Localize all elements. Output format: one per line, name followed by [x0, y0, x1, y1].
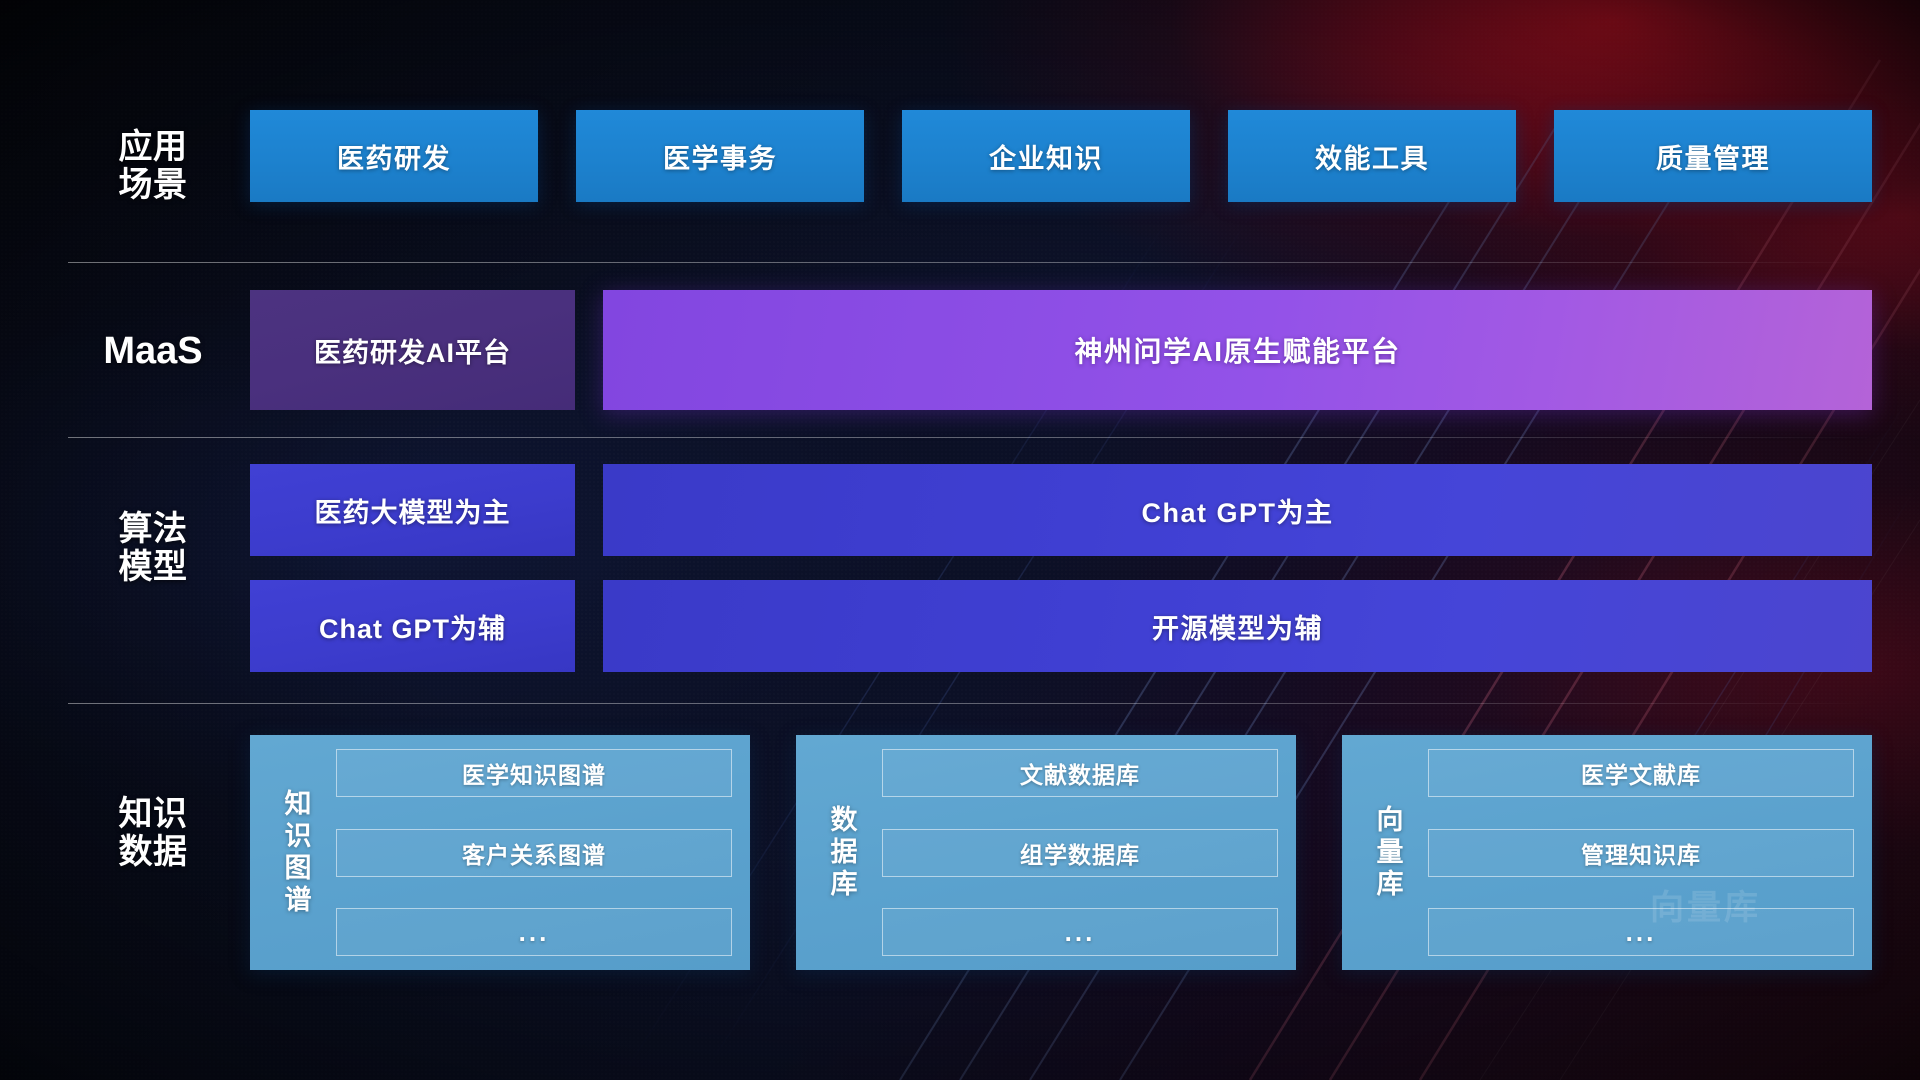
knowledge-panel-items: 医学知识图谱 客户关系图谱 ...	[326, 749, 732, 956]
knowledge-item[interactable]: 医学文献库	[1428, 749, 1854, 797]
algo-box-pharma-llm-primary[interactable]: 医药大模型为主	[250, 464, 575, 556]
divider-tier3	[68, 703, 1872, 704]
tier-label-line: 场景	[78, 166, 228, 204]
app-box-quality-management[interactable]: 质量管理	[1554, 110, 1872, 202]
algo-bar-chatgpt-primary[interactable]: Chat GPT为主	[603, 464, 1872, 556]
maas-banner-shenzhou-wenxue[interactable]: 神州问学AI原生赋能平台	[603, 290, 1872, 410]
knowledge-panel-items: 文献数据库 组学数据库 ...	[872, 749, 1278, 956]
knowledge-panel-label: 知识图谱	[264, 749, 326, 956]
tier-label-line: 知识	[78, 795, 228, 833]
knowledge-item[interactable]: 文献数据库	[882, 749, 1278, 797]
knowledge-panel-items: 医学文献库 管理知识库 ...	[1418, 749, 1854, 956]
knowledge-item[interactable]: 医学知识图谱	[336, 749, 732, 797]
tier-label-algorithm-models: 算法 模型	[78, 510, 228, 586]
tier-label-line: 模型	[78, 548, 228, 586]
architecture-diagram: 应用 场景 医药研发 医学事务 企业知识 效能工具 质量管理 MaaS 医药研发…	[0, 0, 1920, 1080]
knowledge-panel-knowledge-graph[interactable]: 知识图谱 医学知识图谱 客户关系图谱 ...	[250, 735, 750, 970]
tier-label-line: 应用	[78, 128, 228, 166]
knowledge-panel-label: 数据库	[810, 749, 872, 956]
maas-box-pharma-ai-platform[interactable]: 医药研发AI平台	[250, 290, 575, 410]
knowledge-item-more[interactable]: ...	[336, 908, 732, 956]
tier-label-maas: MaaS	[78, 330, 228, 373]
tier-label-application-scenarios: 应用 场景	[78, 128, 228, 204]
app-box-enterprise-knowledge[interactable]: 企业知识	[902, 110, 1190, 202]
knowledge-item-more[interactable]: ...	[882, 908, 1278, 956]
divider-tier1	[68, 262, 1872, 263]
divider-tier2	[68, 437, 1872, 438]
algo-box-chatgpt-secondary[interactable]: Chat GPT为辅	[250, 580, 575, 672]
tier-label-line: MaaS	[78, 330, 228, 373]
knowledge-item[interactable]: 管理知识库	[1428, 829, 1854, 877]
knowledge-item[interactable]: 组学数据库	[882, 829, 1278, 877]
tier-label-line: 数据	[78, 833, 228, 871]
app-box-efficiency-tools[interactable]: 效能工具	[1228, 110, 1516, 202]
knowledge-panel-database[interactable]: 数据库 文献数据库 组学数据库 ...	[796, 735, 1296, 970]
knowledge-item[interactable]: 客户关系图谱	[336, 829, 732, 877]
tier-label-knowledge-data: 知识 数据	[78, 795, 228, 871]
algo-bar-opensource-secondary[interactable]: 开源模型为辅	[603, 580, 1872, 672]
knowledge-panel-vector-store[interactable]: 向量库 医学文献库 管理知识库 ...	[1342, 735, 1872, 970]
app-box-medicine-rd[interactable]: 医药研发	[250, 110, 538, 202]
tier-label-line: 算法	[78, 510, 228, 548]
knowledge-panel-label: 向量库	[1356, 749, 1418, 956]
app-box-medical-affairs[interactable]: 医学事务	[576, 110, 864, 202]
knowledge-item-more[interactable]: ...	[1428, 908, 1854, 956]
